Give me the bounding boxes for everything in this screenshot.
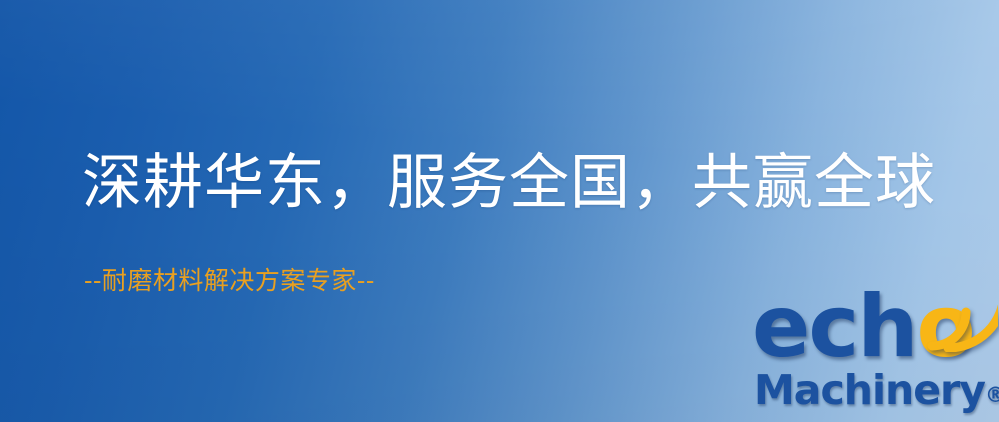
logo-tagline-text: Machinery bbox=[754, 366, 985, 414]
signal-waves-icon bbox=[926, 290, 998, 352]
banner-subtitle: --耐磨材料解决方案专家-- bbox=[84, 266, 375, 296]
banner-headline: 深耕华东，服务全国，共赢全球 bbox=[82, 152, 936, 215]
logo-tagline-machinery: Machinery® bbox=[754, 370, 999, 411]
logo-wordmark-echo-prefix: ech bbox=[752, 277, 917, 377]
promo-banner: 深耕华东，服务全国，共赢全球 --耐磨材料解决方案专家-- echo Machi… bbox=[0, 0, 999, 422]
registered-trademark-icon: ® bbox=[985, 383, 999, 407]
echo-machinery-logo[interactable]: echo Machinery® bbox=[748, 286, 999, 422]
